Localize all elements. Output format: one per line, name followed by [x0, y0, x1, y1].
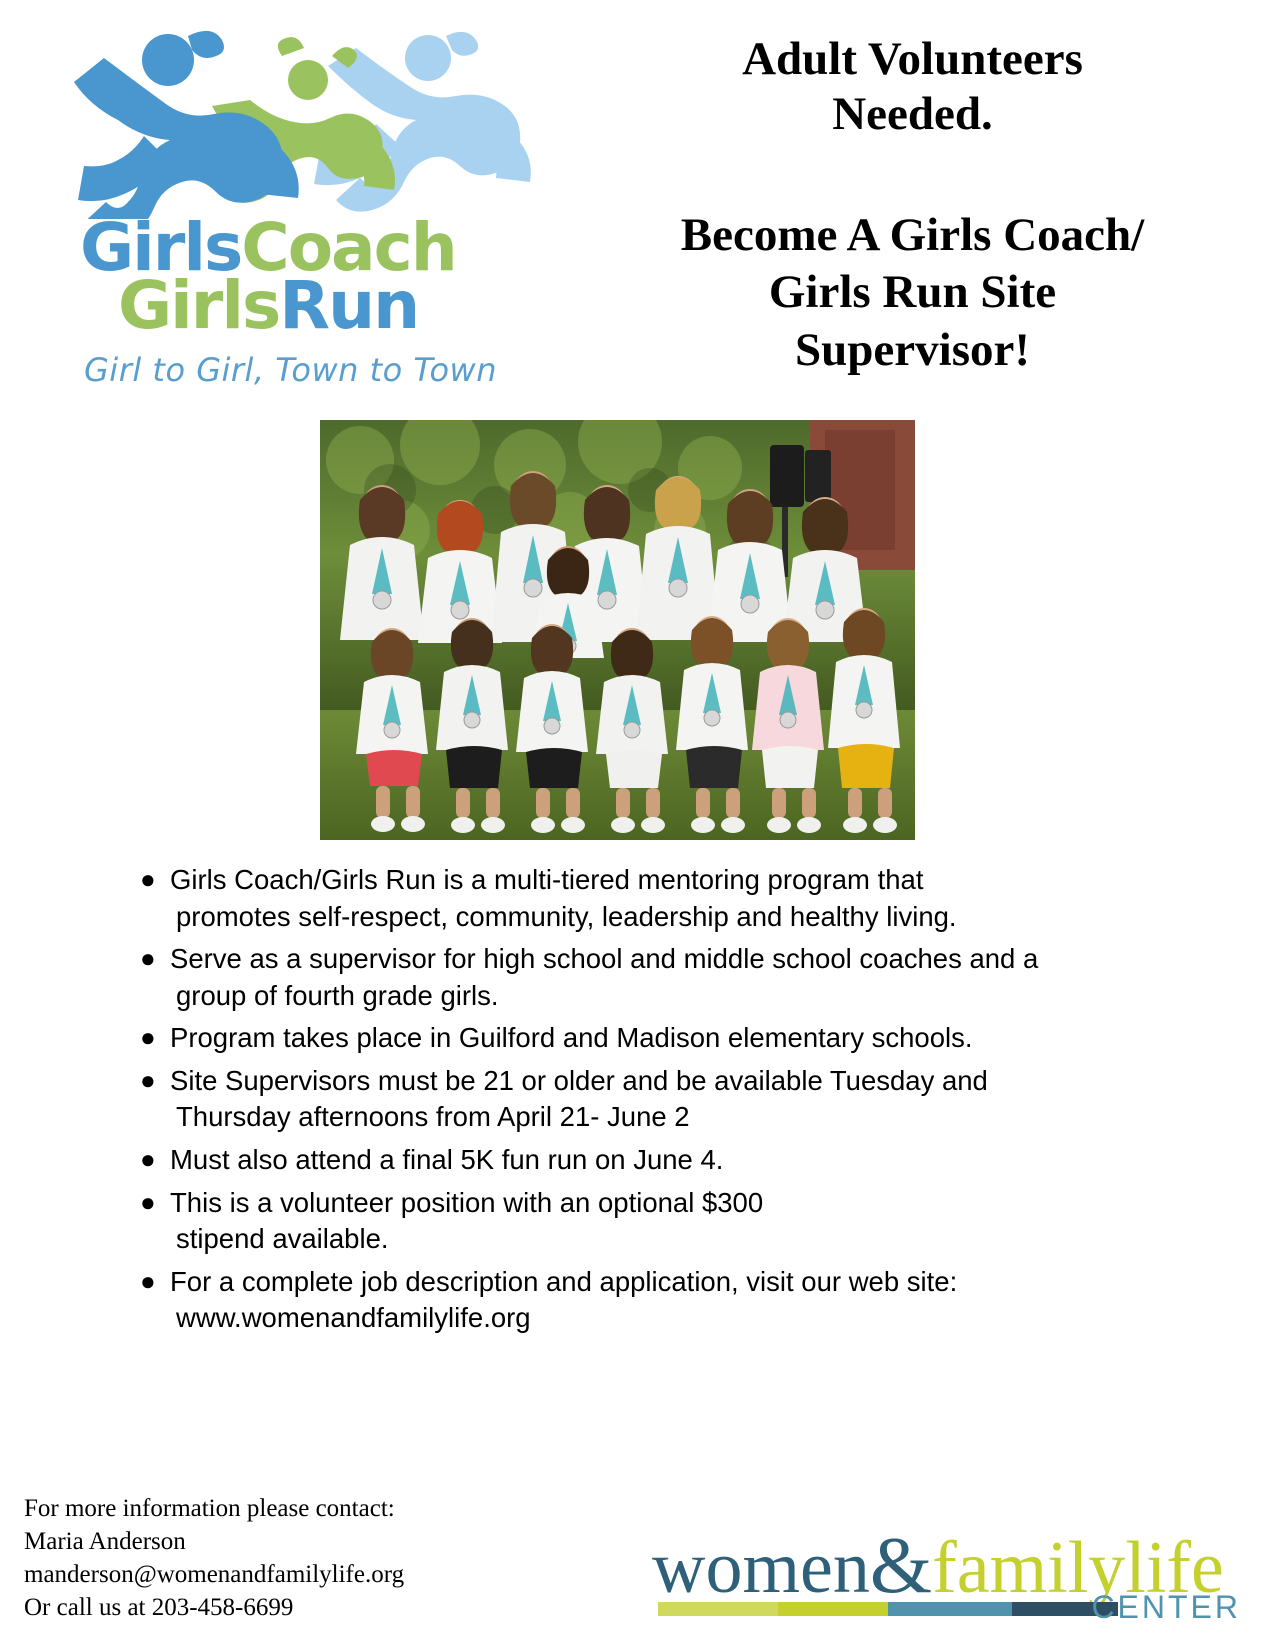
list-item-line: group of fourth grade girls. — [170, 978, 1155, 1015]
logo-word-girls-2: Girls — [118, 267, 279, 344]
bullet-icon: ● — [140, 1142, 170, 1176]
list-item: ● Must also attend a final 5K fun run on… — [140, 1142, 1155, 1179]
list-item-line: This is a volunteer position with an opt… — [170, 1187, 763, 1218]
list-item: ● Serve as a supervisor for high school … — [140, 941, 1155, 1014]
list-item-line: stipend available. — [170, 1221, 1155, 1258]
list-item-line: Thursday afternoons from April 21- June … — [170, 1099, 1155, 1136]
running-figures-icon — [70, 24, 570, 219]
flyer-header: GirlsCoach GirlsRun Girl to Girl, Town t… — [0, 0, 1275, 420]
bullet-icon: ● — [140, 1020, 170, 1054]
list-item-text: Must also attend a final 5K fun run on J… — [170, 1142, 1155, 1179]
bullet-icon: ● — [140, 1185, 170, 1219]
logo-wordmark: GirlsCoach GirlsRun — [70, 219, 590, 335]
website-url[interactable]: www.womenandfamilylife.org — [170, 1300, 1155, 1337]
list-item-line: promotes self-respect, community, leader… — [170, 899, 1155, 936]
list-item: ● Program takes place in Guilford and Ma… — [140, 1020, 1155, 1057]
flyer-footer: For more information please contact: Mar… — [0, 1454, 1275, 1634]
bullet-icon: ● — [140, 862, 170, 896]
headline-line-1: Adult Volunteers — [590, 32, 1235, 87]
bullet-icon: ● — [140, 1063, 170, 1097]
bullet-icon: ● — [140, 941, 170, 975]
logo-tagline: Girl to Girl, Town to Town — [84, 351, 590, 389]
list-item-line: Program takes place in Guilford and Madi… — [170, 1022, 972, 1053]
girls-coach-girls-run-logo: GirlsCoach GirlsRun Girl to Girl, Town t… — [30, 18, 590, 389]
color-bar-segment-3 — [888, 1602, 1012, 1616]
headline-line-3: Become A Girls Coach/ — [590, 207, 1235, 264]
list-item-line: Site Supervisors must be 21 or older and… — [170, 1065, 988, 1096]
list-item-text: Program takes place in Guilford and Madi… — [170, 1020, 1155, 1057]
sponsor-color-bar — [658, 1602, 1118, 1616]
logo-word-run: Run — [279, 267, 418, 344]
headline-line-4: Girls Run Site — [590, 264, 1235, 321]
headline-secondary: Become A Girls Coach/ Girls Run Site Sup… — [590, 207, 1235, 379]
headline-line-2: Needed. — [590, 87, 1235, 142]
women-and-family-life-center-logo: women&familylife CENTER — [644, 1504, 1249, 1634]
list-item-text: This is a volunteer position with an opt… — [170, 1185, 1155, 1258]
list-item-text: Girls Coach/Girls Run is a multi-tiered … — [170, 862, 1155, 935]
list-item-line: Must also attend a final 5K fun run on J… — [170, 1144, 723, 1175]
sponsor-word-center: CENTER — [1091, 1589, 1241, 1626]
list-item-text: Site Supervisors must be 21 or older and… — [170, 1063, 1155, 1136]
contact-intro: For more information please contact: — [24, 1492, 644, 1525]
bullet-icon: ● — [140, 1264, 170, 1298]
bullet-list: ● Girls Coach/Girls Run is a multi-tiere… — [0, 862, 1275, 1337]
list-item: ● This is a volunteer position with an o… — [140, 1185, 1155, 1258]
list-item-line: Serve as a supervisor for high school an… — [170, 943, 1038, 974]
list-item-line: Girls Coach/Girls Run is a multi-tiered … — [170, 864, 923, 895]
headline-block: Adult Volunteers Needed. Become A Girls … — [590, 18, 1245, 379]
contact-phone: Or call us at 203-458-6699 — [24, 1591, 644, 1624]
ampersand-icon: & — [870, 1522, 932, 1610]
sponsor-word-women: women — [652, 1527, 870, 1609]
list-item-text: For a complete job description and appli… — [170, 1264, 1155, 1337]
list-item-line: For a complete job description and appli… — [170, 1266, 957, 1297]
contact-block: For more information please contact: Mar… — [24, 1492, 644, 1634]
contact-email[interactable]: manderson@womenandfamilylife.org — [24, 1558, 644, 1591]
list-item-text: Serve as a supervisor for high school an… — [170, 941, 1155, 1014]
contact-name: Maria Anderson — [24, 1525, 644, 1558]
headline-primary: Adult Volunteers Needed. — [590, 32, 1235, 143]
headline-line-5: Supervisor! — [590, 322, 1235, 379]
list-item: ● For a complete job description and app… — [140, 1264, 1155, 1337]
team-group-photo — [320, 420, 915, 840]
color-bar-segment-1 — [658, 1602, 778, 1616]
list-item: ● Girls Coach/Girls Run is a multi-tiere… — [140, 862, 1155, 935]
list-item: ● Site Supervisors must be 21 or older a… — [140, 1063, 1155, 1136]
color-bar-segment-2 — [778, 1602, 888, 1616]
